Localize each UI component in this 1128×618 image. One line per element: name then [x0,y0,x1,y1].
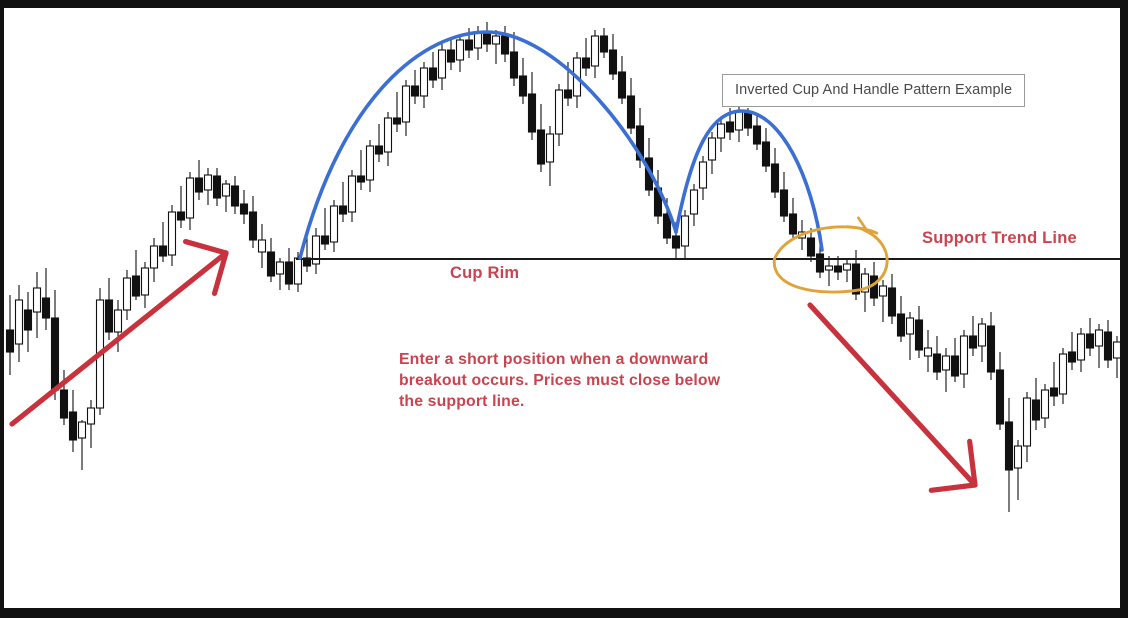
support-trend-line-label: Support Trend Line [922,229,1077,248]
candlestick [151,238,158,282]
candlestick [961,330,968,388]
candlestick [7,295,14,375]
candlestick [142,262,149,308]
trading-instruction-text: Enter a short position when a downward b… [399,349,720,412]
candlestick [52,290,59,400]
candlestick [1096,324,1103,368]
candlestick [1006,398,1013,512]
candlestick [160,222,167,262]
candlestick [403,80,410,136]
candlestick [34,272,41,338]
candlestick [187,172,194,230]
candlestick [394,92,401,132]
candlestick [529,72,536,140]
candlestick [628,78,635,134]
candlestick [16,285,23,362]
candlestick [367,140,374,192]
pattern-title-box: Inverted Cup And Handle Pattern Example [722,74,1025,107]
candlestick [124,270,131,320]
candlestick [763,128,770,172]
candlestick [43,268,50,330]
candlestick [1015,440,1022,500]
candlestick [691,184,698,226]
candlestick [889,274,896,324]
candlestick [439,44,446,90]
candlestick [250,196,257,248]
candlestick [970,316,977,356]
candlestick [898,296,905,342]
candlestick [79,420,86,470]
candlestick [457,34,464,72]
frame-right-edge [1120,0,1128,618]
candlestick [997,352,1004,430]
candlestick [1024,392,1031,462]
candlestick [592,30,599,78]
candlestick [1087,318,1094,356]
candlestick [943,348,950,392]
candlestick [286,248,293,290]
candlestick [178,186,185,228]
chart-screenshot: Inverted Cup And Handle Pattern Example … [0,0,1128,618]
candlestick [754,116,761,150]
candlestick [484,22,491,52]
candlestick [700,156,707,200]
frame-bottom-edge [0,608,1128,618]
candlestick [412,70,419,104]
candlestick [1069,332,1076,370]
candlestick [277,258,284,290]
candlestick [556,84,563,146]
candlestick [781,172,788,222]
candlestick [169,205,176,266]
candlestick [1033,378,1040,430]
candlestick [25,292,32,352]
candlestick [520,58,527,104]
candlestick [790,198,797,240]
candlestick [259,224,266,268]
candlestick [682,210,689,258]
candlestick [934,336,941,380]
candlestick [349,170,356,222]
candlestick [376,124,383,162]
candlestick [322,208,329,250]
candlestick [988,312,995,380]
candlestick [331,200,338,252]
candlestick [979,318,986,362]
cup-rim-label: Cup Rim [450,264,519,283]
candlestick [205,168,212,205]
candlestick [610,34,617,80]
candlestick [853,250,860,300]
annotation-arrow [810,305,975,490]
candlestick [232,176,239,214]
annotation-arrow [12,242,226,424]
candlestick [1078,328,1085,372]
candlestick [1060,348,1067,404]
candlestick [133,250,140,300]
candlestick [1042,384,1049,428]
candlestick [430,52,437,88]
candlestick [916,306,923,358]
candlestick [547,126,554,186]
candlestick [772,148,779,198]
candlestick [448,38,455,70]
candlestick [880,280,887,322]
candlestick [358,150,365,190]
candlestick [223,180,230,212]
candlestick [502,26,509,62]
candlestick [952,338,959,382]
candlestick [268,238,275,282]
candlestick [214,168,221,206]
candlestick [421,62,428,108]
candlestick [583,38,590,76]
candlestick [718,118,725,152]
candlestick [511,32,518,86]
frame-left-edge [0,0,4,618]
candlestick [313,228,320,274]
candlestick [106,278,113,340]
candlestick [493,30,500,64]
candlestick [844,258,851,282]
candlestick [88,400,95,448]
candlestick [538,104,545,172]
candlestick [619,56,626,104]
candlestick [826,256,833,286]
candlestick [925,330,932,372]
inverted-cup-curve [300,32,822,258]
candlestick [907,312,914,360]
candlestick [70,390,77,452]
candlestick [196,160,203,200]
candlestick [601,28,608,58]
candlestick [241,190,248,224]
candlestick [709,132,716,174]
candlestick [1105,320,1112,368]
candlestick [385,112,392,166]
candlestick [1051,362,1058,406]
frame-top-edge [0,0,1128,8]
candlestick [340,182,347,222]
candlestick [655,170,662,224]
